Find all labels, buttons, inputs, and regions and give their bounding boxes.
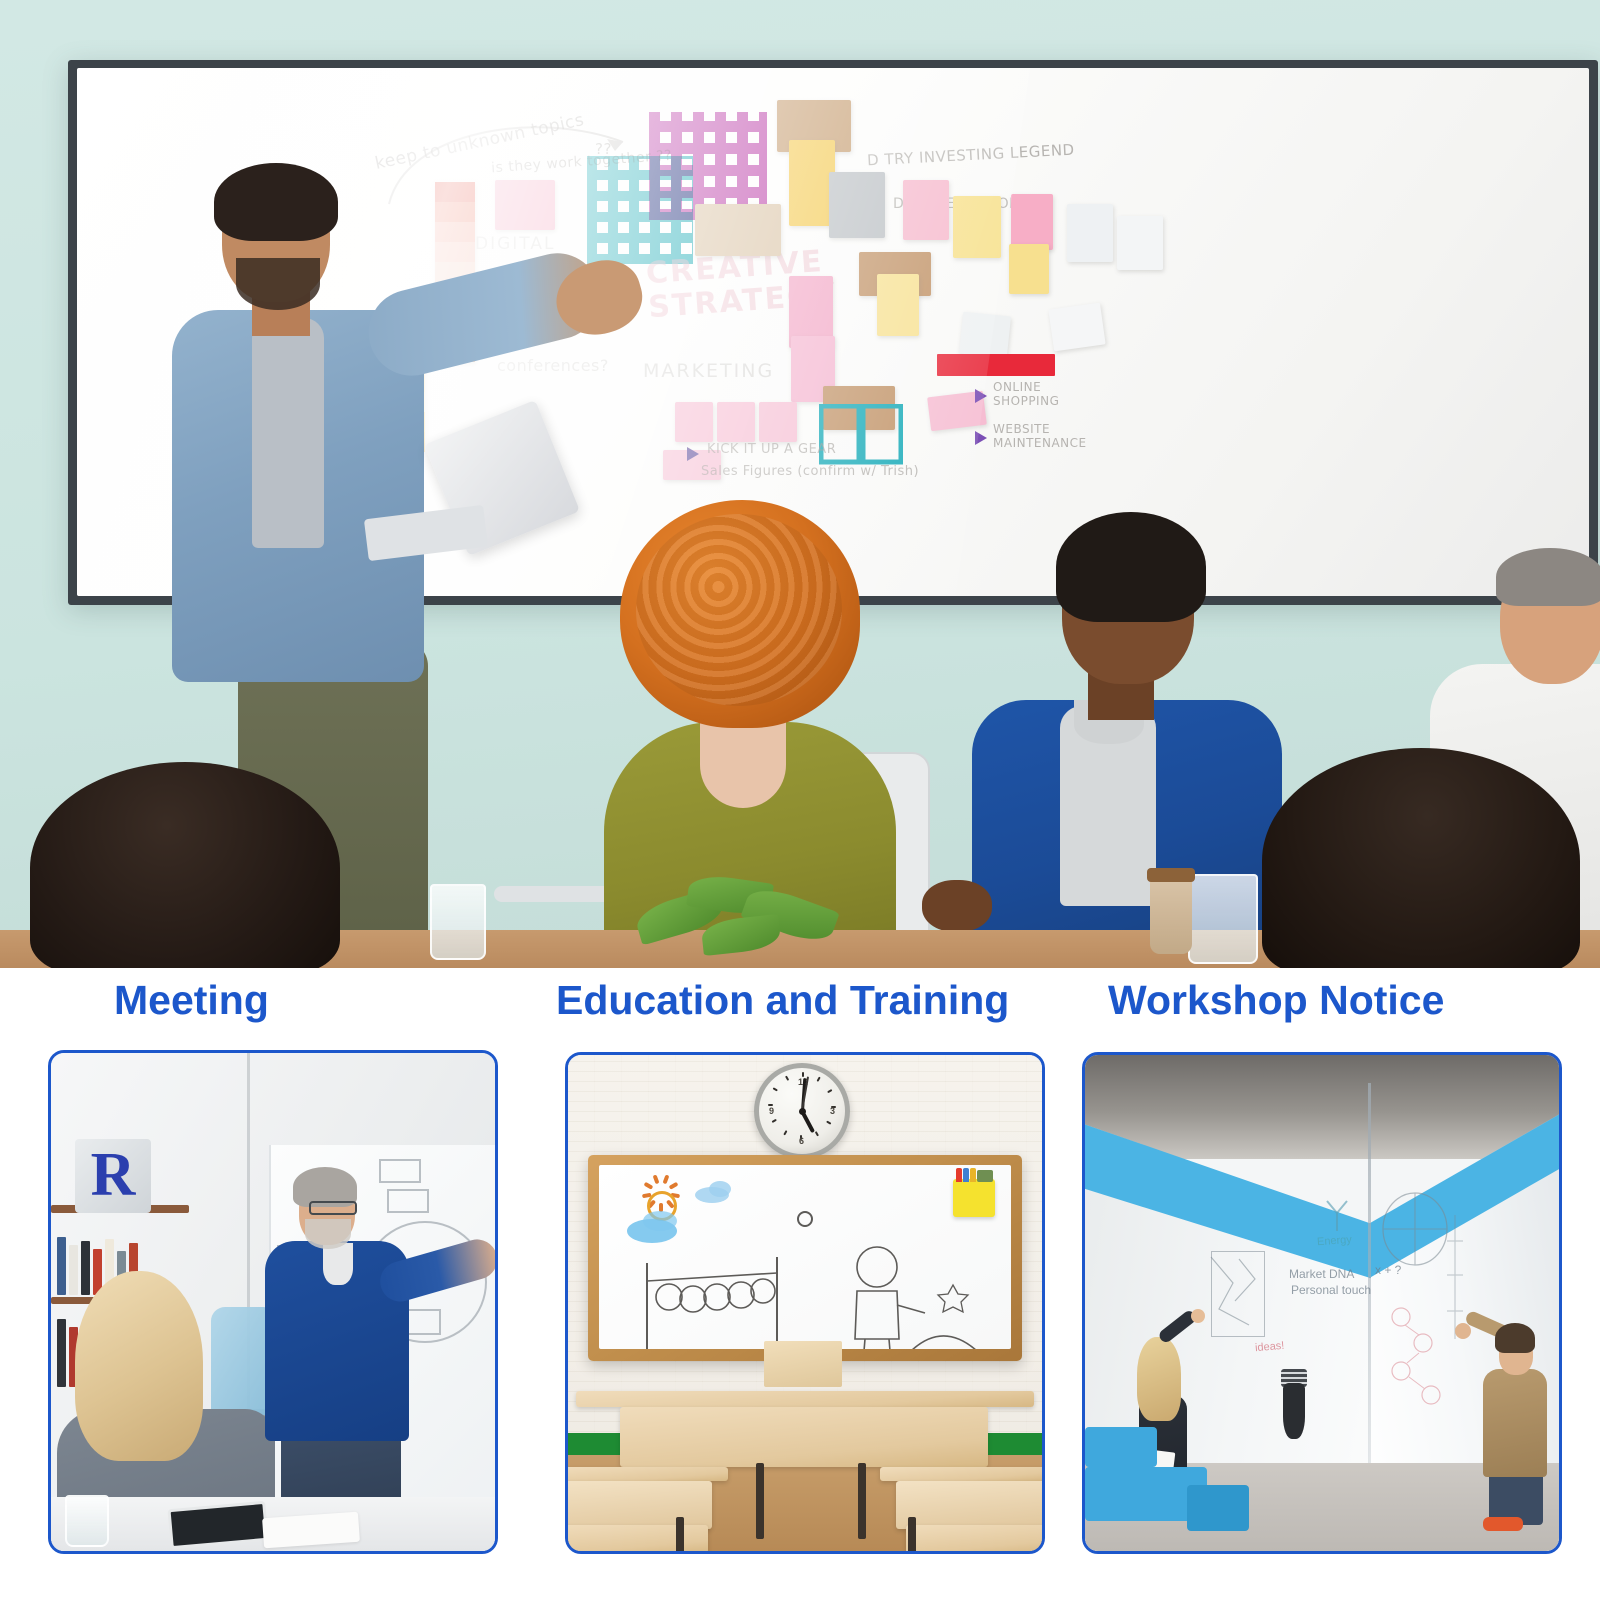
p2-desk-left-top: [565, 1467, 728, 1481]
attendee-1-hair: [620, 500, 860, 728]
sticky-note-pink-3: [1011, 194, 1053, 250]
product-feature-collage: keep to unknown topics is they work toge…: [0, 0, 1600, 1600]
hero-photo-meeting-room: keep to unknown topics is they work toge…: [0, 0, 1600, 968]
panel-meeting-title: Meeting: [114, 980, 269, 1021]
sticky-note-white-2: [1117, 216, 1163, 270]
attendee-2-hand: [922, 880, 992, 932]
p1-water-glass: [65, 1495, 109, 1547]
p3-hanging-coat: [1283, 1383, 1305, 1439]
p2-drawing-child: [841, 1243, 991, 1349]
p1-man-glasses: [309, 1201, 357, 1215]
p3-sofa-right: [1187, 1485, 1249, 1531]
p3-ceiling: [1085, 1055, 1559, 1159]
p2-desk-right-top: [880, 1467, 1045, 1481]
highlight-bar-red: [937, 354, 1055, 376]
p2-marker-tray: [953, 1179, 995, 1217]
icon-card-2: [717, 402, 755, 442]
whiteboard-note-10: WEBSITE MAINTENANCE: [993, 422, 1083, 450]
p2-desk-back-front: [620, 1407, 988, 1467]
whiteboard-note-5: conferences?: [497, 356, 609, 375]
p1-man-tshirt: [323, 1243, 353, 1285]
presenter-shirt: [252, 318, 324, 548]
p3-woman-hand: [1191, 1309, 1205, 1323]
sticky-note-yellow-2: [953, 196, 1001, 258]
p3-man-hair: [1495, 1323, 1535, 1353]
sticky-note-white-3: [1048, 303, 1105, 352]
p2-desk-leg-3: [676, 1517, 684, 1554]
p2-desk-leg-4: [908, 1517, 916, 1554]
p3-man-shoe: [1483, 1517, 1523, 1531]
sticky-note-pink-2: [903, 180, 949, 240]
water-glass-left: [430, 884, 486, 960]
attendee-3-hair: [1496, 548, 1600, 606]
panel-education-title: Education and Training: [556, 980, 1009, 1021]
p1-woman-hair: [75, 1271, 203, 1461]
p3-wall-formula: x + ?: [1375, 1263, 1401, 1277]
panel-education-image: 12 3 6 9: [565, 1052, 1045, 1554]
p2-podium: [764, 1341, 842, 1387]
p3-wall-note-1: Market DNA: [1289, 1267, 1354, 1281]
whiteboard-note-8: Sales Figures (confirm w/ Trish): [701, 464, 919, 479]
p2-drawing-cloud-4: [643, 1211, 677, 1231]
p3-tree-sketch-icon: [1321, 1197, 1353, 1231]
presenter-hair: [214, 163, 338, 241]
p2-desk-front-left: [565, 1525, 708, 1553]
coffee-cup: [1150, 876, 1192, 954]
p1-man-beard: [305, 1219, 351, 1249]
whiteboard-note-7: KICK IT UP A GEAR: [707, 442, 836, 457]
p2-desk-back-top: [576, 1391, 1034, 1407]
sticky-note-yellow-3: [877, 274, 919, 336]
use-case-panels: Meeting TIME R: [0, 968, 1600, 1600]
p2-drawing-pandas: [635, 1257, 815, 1349]
icon-card-1: [675, 402, 713, 442]
bullet-triangle-icon-3: [685, 446, 701, 462]
panel-workshop-image: Energy Market DNA Personal touch ideas! …: [1082, 1052, 1562, 1554]
panel-workshop[interactable]: Workshop Notice Energy Market DNA Person…: [1060, 968, 1600, 1600]
p3-man-hand: [1455, 1323, 1471, 1339]
p2-drawing-spiral: [797, 1211, 813, 1227]
p2-desk-left-front: [565, 1481, 712, 1529]
whiteboard-note-9: ONLINE SHOPPING: [993, 380, 1073, 408]
p1-logo-letter: R: [75, 1139, 151, 1213]
p2-desk-front-right: [906, 1525, 1045, 1553]
sticky-note-white-4: [959, 312, 1011, 359]
panel-education[interactable]: Education and Training 12 3 6 9: [520, 968, 1060, 1600]
p2-whiteboard-frame: [588, 1155, 1022, 1361]
foreground-attendee-right: [1262, 748, 1580, 968]
bullet-triangle-icon-1: [973, 388, 989, 404]
p2-drawing-cloud-2: [709, 1181, 731, 1197]
p1-tablet-device: [167, 1501, 268, 1549]
p1-doodle-box-1: [379, 1159, 421, 1183]
p2-desk-leg-2: [858, 1463, 866, 1539]
whiteboard-subhead: MARKETING: [643, 360, 774, 382]
p2-whiteboard-surface: [599, 1165, 1011, 1349]
whiteboard-note-6: DIGITAL: [475, 234, 555, 254]
p3-woman-hair: [1137, 1337, 1181, 1421]
p1-doodle-box-2: [387, 1189, 429, 1213]
p3-diagram-left-sketch: [1205, 1249, 1269, 1341]
p3-sofa-back: [1085, 1427, 1157, 1467]
water-glass-right: [1188, 874, 1258, 964]
sticky-note-white-1: [1067, 204, 1113, 262]
presenter-beard: [236, 258, 320, 310]
table-plant: [636, 872, 866, 968]
sticky-note-grey-1: [829, 172, 885, 238]
sticky-note-beige-1: [695, 204, 781, 256]
panel-meeting-image: TIME R: [48, 1050, 498, 1554]
p3-wall-note-0: Energy: [1317, 1234, 1353, 1248]
sticky-note-yellow-4: [1009, 244, 1049, 294]
icon-card-3: [759, 402, 797, 442]
p3-wall-note-3: ideas!: [1255, 1340, 1285, 1355]
p3-wall-note-2: Personal touch: [1291, 1283, 1371, 1297]
whiteboard-note-2: D TRY INVESTING LEGEND: [867, 141, 1075, 170]
foreground-attendee-left: [30, 762, 340, 968]
qr-pattern-teal: [587, 156, 693, 264]
bullet-triangle-icon-2: [973, 430, 989, 446]
p2-desk-leg-1: [756, 1463, 764, 1539]
attendee-2-hair: [1056, 512, 1206, 622]
p3-man-sweater: [1483, 1369, 1547, 1477]
p2-desk-right-front: [896, 1481, 1045, 1529]
p2-wall-clock: 12 3 6 9: [754, 1063, 850, 1159]
panel-meeting[interactable]: Meeting TIME R: [0, 968, 520, 1600]
panel-workshop-title: Workshop Notice: [1108, 980, 1444, 1021]
sticky-note-pink-1: [495, 180, 555, 230]
